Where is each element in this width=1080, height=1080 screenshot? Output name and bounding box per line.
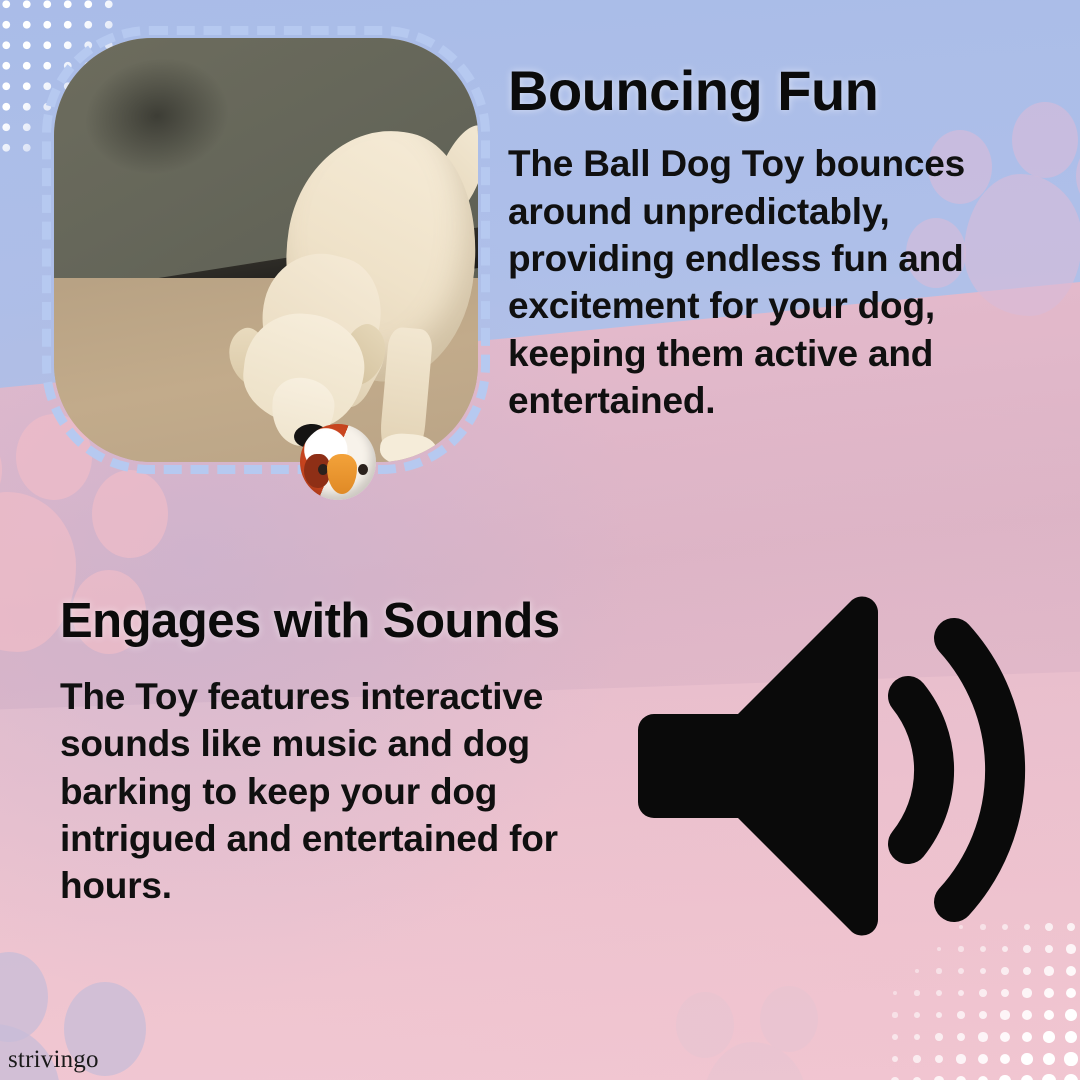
paw-toe: [0, 952, 48, 1042]
paw-toe: [676, 992, 734, 1058]
halftone-dot: [936, 990, 942, 996]
halftone-dot: [1045, 945, 1054, 954]
speaker-cone-shape: [638, 596, 878, 935]
photo-dashed-border: [42, 26, 490, 474]
halftone-dot: [935, 1055, 943, 1063]
halftone-dot: [978, 1054, 988, 1064]
halftone-dot: [957, 1011, 965, 1019]
halftone-dot: [979, 989, 987, 997]
halftone-dot: [1064, 1052, 1077, 1065]
halftone-dot: [1000, 1010, 1009, 1019]
speaker-wave-outer: [954, 638, 1005, 902]
halftone-dot: [1066, 944, 1075, 953]
halftone-dot: [1066, 966, 1076, 976]
ball-dog-toy: [300, 424, 376, 500]
halftone-dot: [1023, 945, 1031, 953]
halftone-dot: [1001, 989, 1009, 997]
feature-heading: Engages with Sounds: [60, 596, 580, 647]
paw-print-bottom-right: [676, 986, 856, 1080]
halftone-dot: [1021, 1053, 1033, 1065]
halftone-dot: [1002, 946, 1009, 953]
halftone-dot: [957, 1033, 965, 1041]
halftone-dot: [934, 1076, 943, 1080]
halftone-dot: [1044, 966, 1053, 975]
halftone-dot: [1001, 967, 1009, 975]
speaker-volume-icon: [636, 586, 1036, 946]
halftone-dot: [892, 1034, 898, 1040]
watermark: strivingo: [8, 1046, 99, 1074]
halftone-dot: [1023, 967, 1031, 975]
halftone-dot: [913, 1055, 920, 1062]
halftone-dot: [937, 947, 941, 951]
halftone-dot: [1042, 1074, 1055, 1080]
feature-heading: Bouncing Fun: [508, 62, 1020, 120]
feature-body: The Toy features interactive sounds like…: [60, 673, 580, 910]
halftone-dot: [914, 1034, 921, 1041]
halftone-dot: [980, 968, 987, 975]
halftone-dot: [1067, 923, 1076, 932]
halftone-dot: [892, 1056, 899, 1063]
paw-toe: [92, 470, 168, 558]
feature-body: The Ball Dog Toy bounces around unpredic…: [508, 140, 1020, 424]
halftone-dot: [1043, 1053, 1055, 1065]
halftone-dot: [956, 1076, 966, 1080]
halftone-dot: [936, 1012, 943, 1019]
halftone-dot: [999, 1075, 1011, 1080]
halftone-dot: [956, 1054, 965, 1063]
toy-eye-right: [358, 464, 368, 475]
halftone-dot: [1065, 1009, 1077, 1021]
halftone-dot: [1065, 1031, 1077, 1043]
paw-toe: [760, 986, 818, 1052]
halftone-dot: [1044, 988, 1054, 998]
halftone-dot: [1045, 923, 1053, 931]
halftone-dot: [1022, 1032, 1033, 1043]
halftone-dot: [958, 990, 965, 997]
halftone-dot: [1064, 1074, 1078, 1080]
halftone-dot: [1043, 1031, 1055, 1043]
halftone-dot: [1000, 1032, 1010, 1042]
halftone-dot: [978, 1076, 989, 1080]
speaker-wave-inner: [908, 696, 934, 844]
halftone-dot: [1022, 988, 1031, 997]
halftone-dot: [1022, 1010, 1032, 1020]
halftone-dot: [958, 946, 963, 951]
halftone-dot: [936, 968, 941, 973]
dog-photo-card: [42, 26, 490, 474]
feature-block-bouncing-fun: Bouncing Fun The Ball Dog Toy bounces ar…: [508, 62, 1020, 424]
halftone-dot: [915, 969, 919, 973]
halftone-dot: [892, 1012, 897, 1017]
paw-toe: [1012, 102, 1078, 178]
halftone-dot: [935, 1033, 943, 1041]
halftone-dot: [1021, 1075, 1033, 1080]
feature-block-engages-with-sounds: Engages with Sounds The Toy features int…: [60, 596, 580, 910]
halftone-dot: [958, 968, 964, 974]
promo-poster: Bouncing Fun The Ball Dog Toy bounces ar…: [0, 0, 1080, 1080]
halftone-dot: [979, 1011, 987, 1019]
halftone-dot: [1044, 1010, 1055, 1021]
halftone-dot: [978, 1032, 987, 1041]
halftone-dot: [980, 946, 986, 952]
halftone-dot: [893, 991, 897, 995]
halftone-dot: [914, 990, 919, 995]
halftone-dot: [1066, 988, 1077, 999]
halftone-dot: [1000, 1054, 1011, 1065]
halftone-dot: [914, 1012, 920, 1018]
